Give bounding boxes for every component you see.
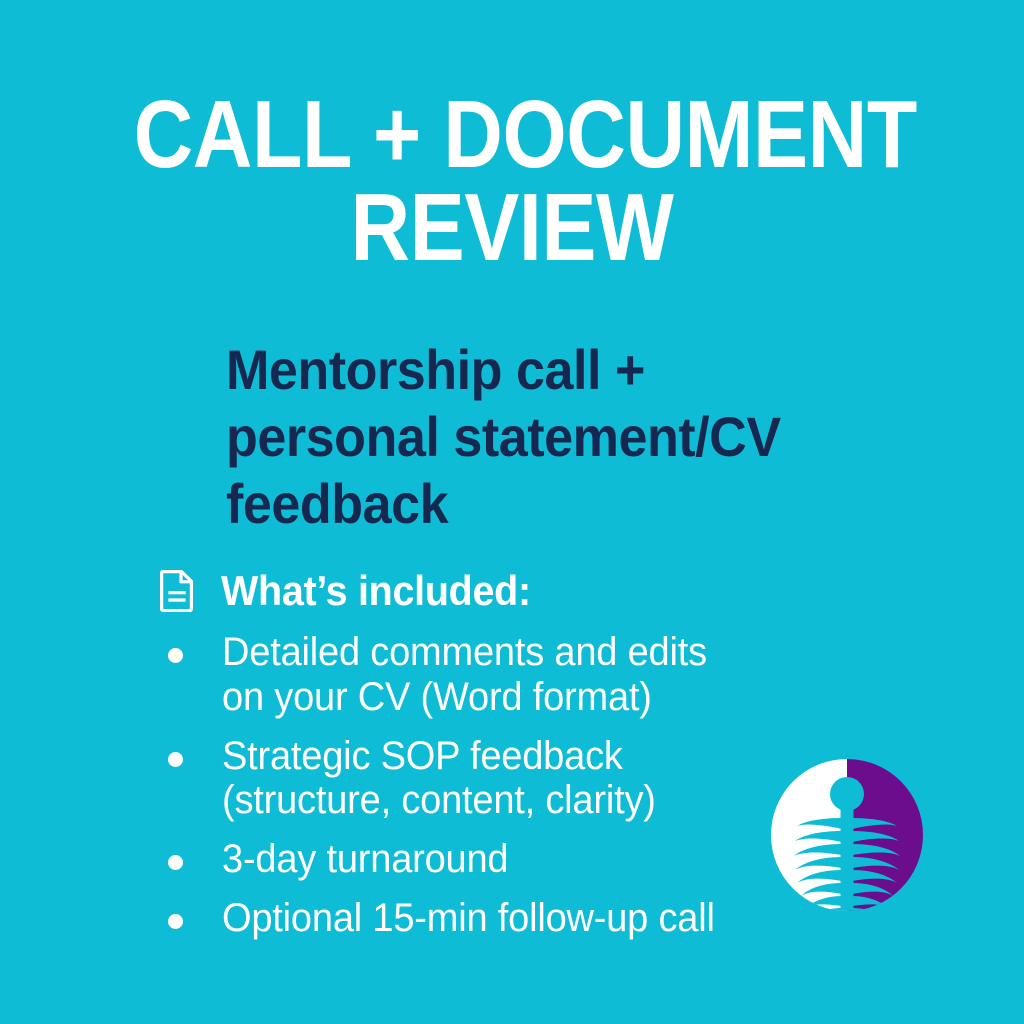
included-heading-label: What’s included: xyxy=(221,570,531,612)
document-icon xyxy=(160,570,194,612)
list-item: Detailed comments and edits on your CV (… xyxy=(168,630,868,720)
poster-canvas: CALL + DOCUMENT REVIEW Mentorship call +… xyxy=(0,0,1024,1024)
bullet-dot-icon xyxy=(168,752,183,767)
subtitle-line-1: Mentorship call + xyxy=(226,336,840,403)
list-item: Optional 15-min follow-up call xyxy=(168,896,868,941)
bullet-dot-icon xyxy=(168,855,183,870)
included-heading: What’s included: xyxy=(160,570,551,612)
title-line-1: CALL + DOCUMENT xyxy=(134,88,891,181)
bullet-text: Detailed comments and edits on your CV (… xyxy=(222,630,707,720)
bullet-text: Strategic SOP feedback (structure, conte… xyxy=(222,734,656,824)
subtitle-line-2: personal statement/CV xyxy=(226,403,840,470)
bullet-dot-icon xyxy=(168,914,183,929)
list-item: 3-day turnaround xyxy=(168,837,868,882)
bullet-text: 3-day turnaround xyxy=(222,837,508,882)
spine-ribcage-circle-icon xyxy=(770,758,924,940)
page-title: CALL + DOCUMENT REVIEW xyxy=(72,88,952,274)
bullet-dot-icon xyxy=(168,648,183,663)
subtitle-line-3: feedback xyxy=(226,470,840,537)
title-line-2: REVIEW xyxy=(134,181,891,274)
subtitle: Mentorship call + personal statement/CV … xyxy=(226,336,886,538)
list-item: Strategic SOP feedback (structure, conte… xyxy=(168,734,868,824)
included-bullet-list: Detailed comments and edits on your CV (… xyxy=(168,630,868,955)
brand-logo xyxy=(770,758,924,940)
bullet-text: Optional 15-min follow-up call xyxy=(222,896,715,941)
